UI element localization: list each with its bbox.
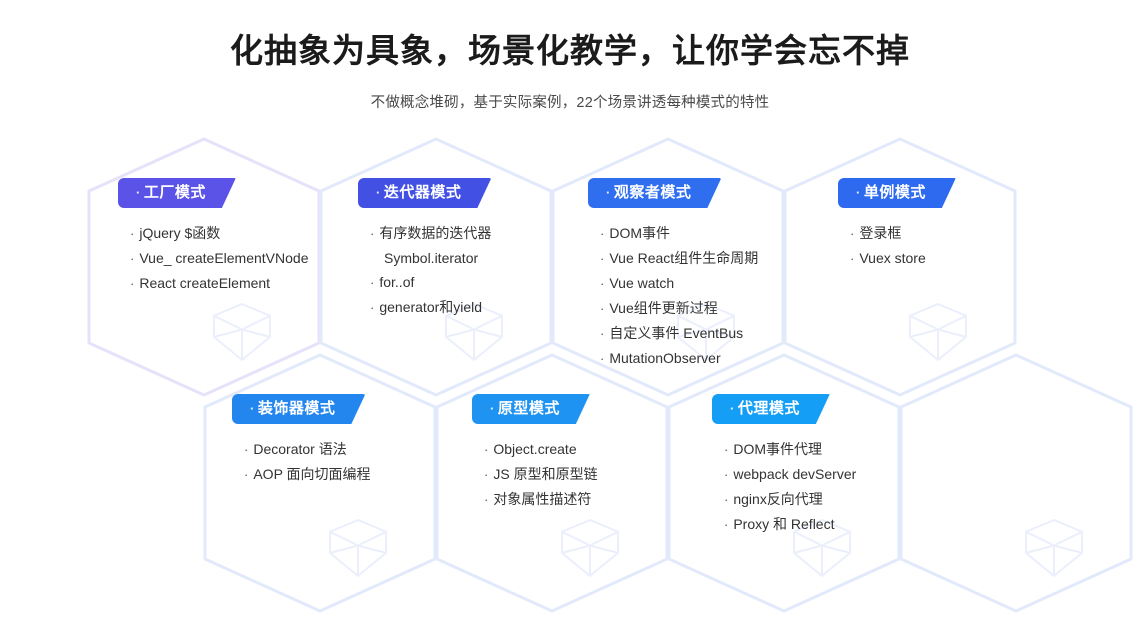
list-item: ·Decorator 语法: [244, 437, 477, 462]
badge-bullet-icon: ·: [490, 401, 495, 416]
card-title: 单例模式: [864, 184, 926, 201]
list-bullet-icon: ·: [600, 226, 604, 241]
card-item-list: ·DOM事件·Vue React组件生命周期·Vue watch·Vue组件更新…: [588, 221, 833, 371]
list-item: ·AOP 面向切面编程: [244, 462, 477, 487]
list-item: ·generator和yield: [370, 295, 603, 320]
list-item: ·登录框: [850, 221, 1083, 246]
list-bullet-icon: ·: [600, 351, 604, 366]
list-bullet-icon: ·: [244, 467, 248, 482]
card-item-list: ·DOM事件代理·webpack devServer·nginx反向代理·Pro…: [712, 437, 957, 537]
list-item-label: Vue watch: [609, 275, 674, 291]
list-item: ·for..of: [370, 270, 603, 295]
list-bullet-icon: ·: [600, 251, 604, 266]
list-item-label: Vue React组件生命周期: [609, 250, 758, 266]
list-item: ·DOM事件代理: [724, 437, 957, 462]
list-bullet-icon: ·: [600, 326, 604, 341]
list-item-label: AOP 面向切面编程: [253, 466, 370, 482]
badge-bullet-icon: ·: [606, 185, 611, 200]
list-bullet-icon: ·: [724, 467, 728, 482]
list-bullet-icon: ·: [244, 442, 248, 457]
badge-bullet-icon: ·: [136, 185, 141, 200]
list-item: ·Vue组件更新过程: [600, 296, 833, 321]
list-bullet-icon: ·: [484, 442, 488, 457]
list-item-label: 对象属性描述符: [493, 491, 591, 507]
list-bullet-icon: ·: [724, 517, 728, 532]
pattern-card-prototype[interactable]: ·原型模式·Object.create·JS 原型和原型链·对象属性描述符: [472, 394, 717, 512]
list-item: ·React createElement: [130, 271, 363, 296]
list-bullet-icon: ·: [370, 275, 374, 290]
list-bullet-icon: ·: [370, 226, 374, 241]
card-badge-observer[interactable]: ·观察者模式: [588, 178, 721, 208]
list-item-label: generator和yield: [379, 299, 482, 315]
list-bullet-icon: ·: [484, 492, 488, 507]
list-item-label: 自定义事件 EventBus: [609, 325, 743, 341]
list-item-label: Symbol.iterator: [384, 250, 478, 266]
card-title: 观察者模式: [614, 184, 692, 201]
list-bullet-icon: ·: [370, 300, 374, 315]
list-item-label: for..of: [379, 274, 414, 290]
list-item: ·Vue_ createElementVNode: [130, 246, 363, 271]
pattern-card-decorator[interactable]: ·装饰器模式·Decorator 语法·AOP 面向切面编程: [232, 394, 477, 487]
badge-bullet-icon: ·: [856, 185, 861, 200]
list-bullet-icon: ·: [130, 276, 134, 291]
list-bullet-icon: ·: [130, 226, 134, 241]
list-item-label: Proxy 和 Reflect: [733, 516, 834, 532]
list-item-label: jQuery $函数: [139, 225, 220, 241]
card-item-list: ·Object.create·JS 原型和原型链·对象属性描述符: [472, 437, 717, 512]
list-item-label: DOM事件: [609, 225, 670, 241]
card-item-list: ·登录框·Vuex store: [838, 221, 1083, 271]
list-item: ·Proxy 和 Reflect: [724, 512, 957, 537]
pattern-card-singleton[interactable]: ·单例模式·登录框·Vuex store: [838, 178, 1083, 271]
list-bullet-icon: ·: [850, 251, 854, 266]
card-badge-iterator[interactable]: ·迭代器模式: [358, 178, 491, 208]
list-bullet-icon: ·: [484, 467, 488, 482]
pattern-card-observer[interactable]: ·观察者模式·DOM事件·Vue React组件生命周期·Vue watch·V…: [588, 178, 833, 371]
list-item-label: 登录框: [859, 225, 901, 241]
list-bullet-icon: ·: [600, 276, 604, 291]
pattern-cards: ·工厂模式·jQuery $函数·Vue_ createElementVNode…: [0, 0, 1140, 642]
list-item: ·Object.create: [484, 437, 717, 462]
list-item-label: 有序数据的迭代器: [379, 225, 491, 241]
card-title: 代理模式: [738, 400, 800, 417]
badge-bullet-icon: ·: [730, 401, 735, 416]
card-badge-proxy[interactable]: ·代理模式: [712, 394, 830, 424]
list-item: ·DOM事件: [600, 221, 833, 246]
card-title: 原型模式: [498, 400, 560, 417]
list-bullet-icon: ·: [850, 226, 854, 241]
card-badge-singleton[interactable]: ·单例模式: [838, 178, 956, 208]
card-badge-prototype[interactable]: ·原型模式: [472, 394, 590, 424]
list-item-label: Vue组件更新过程: [609, 300, 717, 316]
list-item-label: nginx反向代理: [733, 491, 822, 507]
card-badge-factory[interactable]: ·工厂模式: [118, 178, 236, 208]
list-item-label: Object.create: [493, 441, 576, 457]
badge-bullet-icon: ·: [250, 401, 255, 416]
card-item-list: ·有序数据的迭代器Symbol.iterator·for..of·generat…: [358, 221, 603, 320]
list-item-label: Vue_ createElementVNode: [139, 250, 308, 266]
list-item: ·Vue watch: [600, 271, 833, 296]
card-title: 装饰器模式: [258, 400, 336, 417]
card-title: 工厂模式: [144, 184, 206, 201]
card-badge-decorator[interactable]: ·装饰器模式: [232, 394, 365, 424]
badge-bullet-icon: ·: [376, 185, 381, 200]
list-item: ·jQuery $函数: [130, 221, 363, 246]
list-item: ·Vue React组件生命周期: [600, 246, 833, 271]
list-item: ·自定义事件 EventBus: [600, 321, 833, 346]
list-item-label: React createElement: [139, 275, 270, 291]
card-item-list: ·Decorator 语法·AOP 面向切面编程: [232, 437, 477, 487]
list-item-label: Decorator 语法: [253, 441, 346, 457]
list-item: ·MutationObserver: [600, 346, 833, 371]
list-item-label: MutationObserver: [609, 350, 720, 366]
list-bullet-icon: ·: [130, 251, 134, 266]
list-item-label: webpack devServer: [733, 466, 856, 482]
list-bullet-icon: ·: [724, 492, 728, 507]
list-item: Symbol.iterator: [370, 246, 603, 270]
list-item: ·JS 原型和原型链: [484, 462, 717, 487]
card-title: 迭代器模式: [384, 184, 462, 201]
list-item: ·nginx反向代理: [724, 487, 957, 512]
list-bullet-icon: ·: [600, 301, 604, 316]
list-bullet-icon: ·: [724, 442, 728, 457]
list-item-label: Vuex store: [859, 250, 925, 266]
list-item-label: DOM事件代理: [733, 441, 822, 457]
list-item: ·对象属性描述符: [484, 487, 717, 512]
card-item-list: ·jQuery $函数·Vue_ createElementVNode·Reac…: [118, 221, 363, 296]
list-item: ·有序数据的迭代器: [370, 221, 603, 246]
pattern-card-factory[interactable]: ·工厂模式·jQuery $函数·Vue_ createElementVNode…: [118, 178, 363, 296]
list-item: ·webpack devServer: [724, 462, 957, 487]
list-item-label: JS 原型和原型链: [493, 466, 597, 482]
pattern-card-proxy[interactable]: ·代理模式·DOM事件代理·webpack devServer·nginx反向代…: [712, 394, 957, 537]
pattern-card-iterator[interactable]: ·迭代器模式·有序数据的迭代器Symbol.iterator·for..of·g…: [358, 178, 603, 320]
list-item: ·Vuex store: [850, 246, 1083, 271]
